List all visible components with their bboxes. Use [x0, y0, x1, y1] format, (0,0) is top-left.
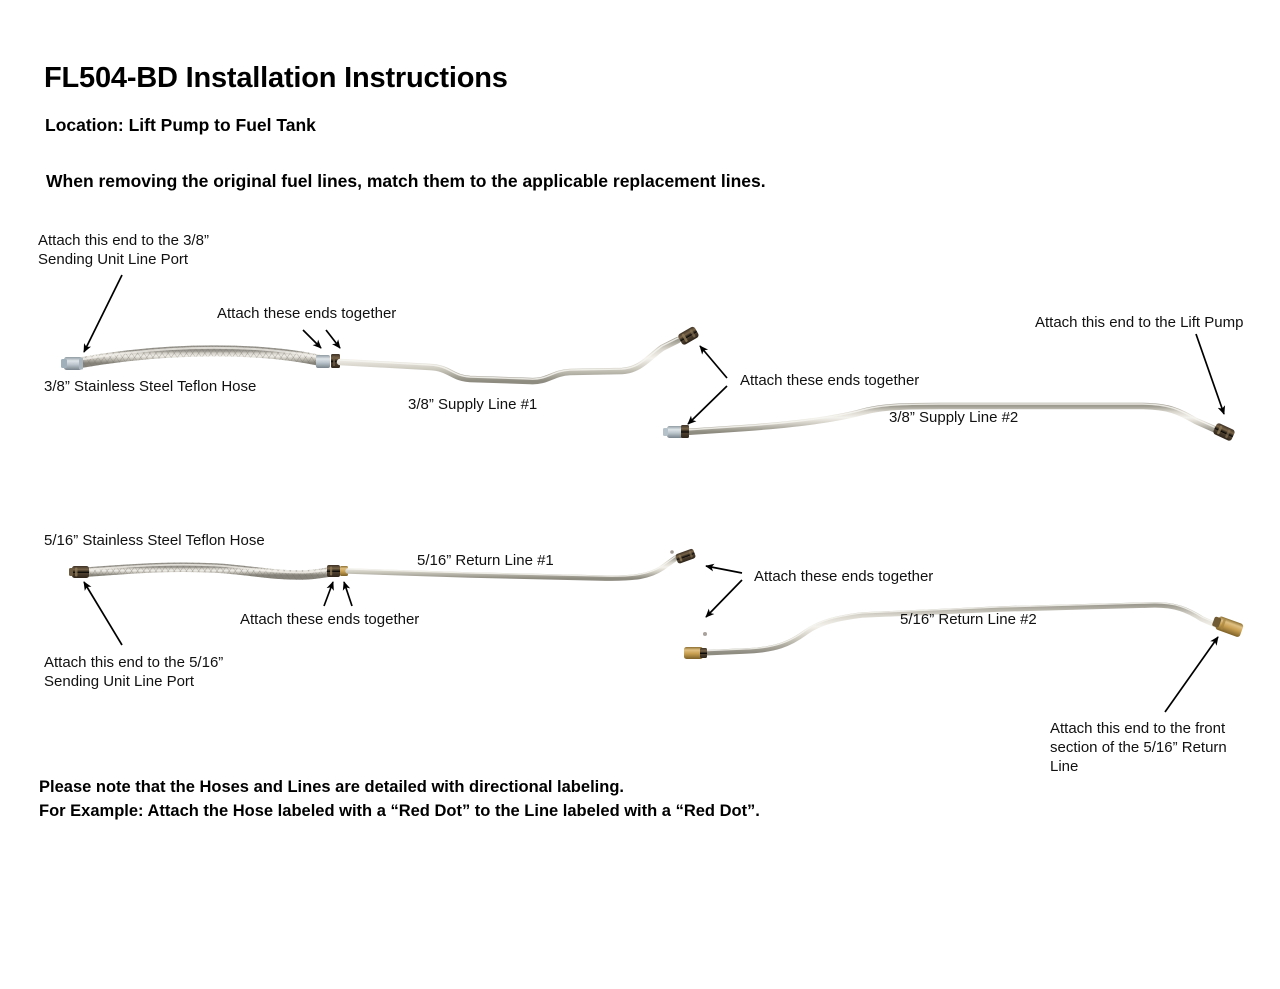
annotation-hose516-sending-unit: Attach this end to the 5/16” Sending Uni…	[44, 653, 223, 691]
hose-38-left-fitting	[61, 357, 83, 370]
part-label-hose-516: 5/16” Stainless Steel Teflon Hose	[44, 531, 265, 550]
fuel-line-diagram	[0, 0, 1280, 989]
arrow-attach4-down	[706, 580, 742, 617]
footer-note-red-dot-example: For Example: Attach the Hose labeled wit…	[39, 802, 760, 821]
arrow-hose516-send-unit	[84, 582, 122, 645]
arrow-lift-pump	[1196, 334, 1224, 414]
supply-line-2-left-fitting	[663, 425, 689, 438]
arrow-attach4-up	[706, 566, 742, 573]
arrow-attach3-right	[344, 582, 352, 606]
annotation-hose38-sending-unit: Attach this end to the 3/8” Sending Unit…	[38, 231, 209, 269]
arrow-attach1-left	[303, 330, 321, 348]
annotation-lift-pump: Attach this end to the Lift Pump	[1035, 313, 1243, 332]
annotation-attach-hose38-supply1: Attach these ends together	[217, 304, 396, 323]
return-line-2-left-fitting	[684, 647, 707, 659]
annotation-arrows	[84, 275, 1224, 712]
footer-note-directional-labeling: Please note that the Hoses and Lines are…	[39, 778, 624, 797]
part-label-return-line-1: 5/16” Return Line #1	[417, 551, 554, 570]
hose-38-assembly	[61, 348, 340, 370]
location-subtitle: Location: Lift Pump to Fuel Tank	[45, 115, 316, 136]
part-label-supply-line-1: 3/8” Supply Line #1	[408, 395, 537, 414]
supply-line-2-right-fitting	[1212, 422, 1235, 441]
annotation-attach-supply1-supply2: Attach these ends together	[740, 371, 919, 390]
return-line-2-right-fitting	[1211, 614, 1244, 637]
return-line-1-right-fitting	[675, 548, 696, 564]
hose-38-right-fitting	[316, 354, 340, 368]
hose-516-right-fitting	[327, 565, 348, 577]
arrow-attach2-up	[700, 346, 727, 378]
arrow-attach2-down	[688, 386, 727, 424]
part-label-supply-line-2: 3/8” Supply Line #2	[889, 408, 1018, 427]
annotation-attach-hose516-return1: Attach these ends together	[240, 610, 419, 629]
part-label-return-line-2: 5/16” Return Line #2	[900, 610, 1037, 629]
arrow-return2-front	[1165, 637, 1218, 712]
part-label-hose-38: 3/8” Stainless Steel Teflon Hose	[44, 377, 256, 396]
page-title: FL504-BD Installation Instructions	[44, 62, 508, 95]
hose-516-left-fitting	[69, 566, 89, 578]
supply-line-1	[340, 326, 700, 381]
supply-line-1-right-fitting	[677, 326, 699, 346]
instruction-line: When removing the original fuel lines, m…	[46, 171, 766, 192]
arrow-attach3-left	[324, 582, 333, 606]
hose-516-assembly	[69, 565, 348, 578]
annotation-attach-return1-return2: Attach these ends together	[754, 567, 933, 586]
annotation-return2-front-section: Attach this end to the front section of …	[1050, 719, 1227, 776]
arrow-hose38-send-unit	[84, 275, 122, 352]
instruction-sheet-page: FL504-BD Installation Instructions Locat…	[0, 0, 1280, 989]
arrow-attach1-right	[326, 330, 340, 348]
